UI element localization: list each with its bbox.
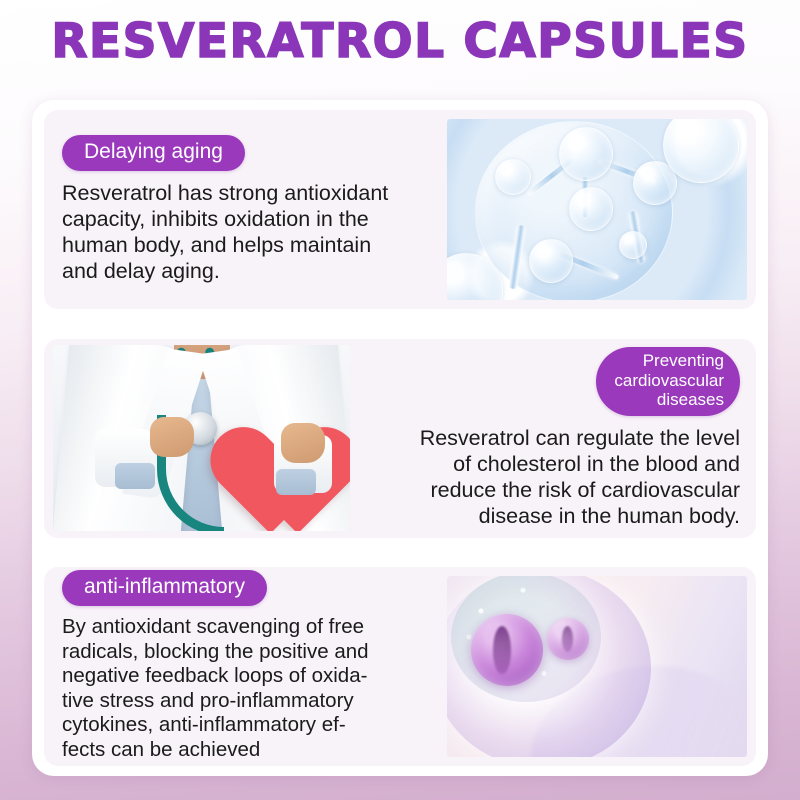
block-text-anti-inflammatory: anti-inflammatory By antioxidant scaveng… xyxy=(44,570,438,762)
content-card: Delaying aging Resveratrol has strong an… xyxy=(32,100,768,776)
badge-preventing-cardiovascular-diseases: Preventing cardiovascular diseases xyxy=(596,347,740,415)
molecule-node-bubble xyxy=(569,187,613,231)
molecule-node-bubble xyxy=(619,231,647,259)
molecule-node-bubble xyxy=(559,127,613,181)
capsule-illustration xyxy=(447,576,747,757)
molecule-illustration xyxy=(447,119,747,300)
block-text-cardiovascular: Preventing cardiovascular diseases Resve… xyxy=(359,347,756,528)
doctor-heart-image xyxy=(53,345,350,531)
capsule-small xyxy=(547,618,589,660)
doctor-hand-left xyxy=(150,417,194,457)
purple-capsule-image xyxy=(447,576,747,757)
shirt-cuff-right xyxy=(276,469,316,495)
block-text-delaying-aging: Delaying aging Resveratrol has strong an… xyxy=(44,135,438,284)
molecule-node-bubble xyxy=(529,239,573,283)
body-text-cardiovascular: Resveratrol can regulate the level of ch… xyxy=(369,425,740,529)
feature-block-delaying-aging: Delaying aging Resveratrol has strong an… xyxy=(44,110,756,309)
feature-block-anti-inflammatory: anti-inflammatory By antioxidant scaveng… xyxy=(44,567,756,766)
capsule-large xyxy=(471,614,543,686)
body-text-delaying-aging: Resveratrol has strong antioxidant capac… xyxy=(62,180,432,284)
molecule-node-bubble xyxy=(495,159,531,195)
badge-anti-inflammatory: anti-inflammatory xyxy=(62,570,267,606)
shirt-cuff-left xyxy=(115,463,155,489)
doctor-illustration xyxy=(53,345,350,531)
page-title: RESVERATROL CAPSULES xyxy=(0,18,800,65)
molecule-bubbles-image xyxy=(447,119,747,300)
doctor-hand-right xyxy=(281,423,325,463)
feature-block-preventing-cardiovascular-diseases: Preventing cardiovascular diseases Resve… xyxy=(44,339,756,538)
badge-delaying-aging: Delaying aging xyxy=(62,135,245,171)
body-text-anti-inflammatory: By antioxidant scavenging of free radica… xyxy=(62,615,432,763)
